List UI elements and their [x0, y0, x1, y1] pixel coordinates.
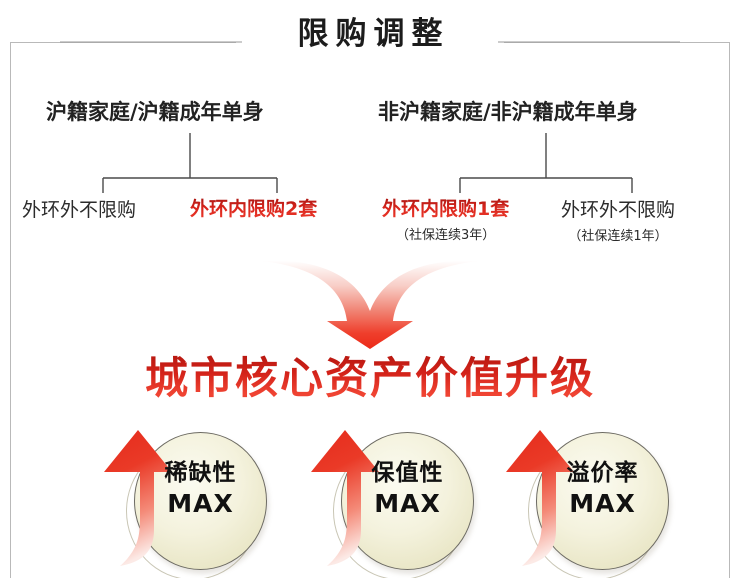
policy-leaf-nonlocal-inner: 外环内限购1套 （社保连续3年） [382, 197, 509, 243]
value-badge-scarcity: 稀缺性 MAX [76, 420, 281, 570]
badge-label-cn: 保值性 [341, 458, 474, 488]
badge-label-en: MAX [341, 488, 474, 520]
badge-label: 稀缺性 MAX [134, 458, 267, 520]
value-badge-retention: 保值性 MAX [283, 420, 488, 570]
policy-leaf-label: 外环内限购1套 [382, 197, 509, 221]
policy-leaf-local-inner: 外环内限购2套 [190, 197, 317, 221]
down-funnel-arrow-icon [255, 255, 485, 351]
badge-label-cn: 溢价率 [536, 458, 669, 488]
policy-leaf-note: （社保连续1年） [561, 225, 675, 244]
policy-leaf-label: 外环外不限购 [22, 198, 136, 222]
badge-label: 溢价率 MAX [536, 458, 669, 520]
badge-label-cn: 稀缺性 [134, 458, 267, 488]
badge-label-en: MAX [536, 488, 669, 520]
headline-container: 城市核心资产价值升级 [0, 352, 740, 406]
policy-leaf-note: （社保连续3年） [382, 224, 509, 243]
page-title: 限购调整 [291, 14, 450, 54]
group-heading-nonlocal: 非沪籍家庭/非沪籍成年单身 [378, 96, 638, 126]
policy-leaf-label: 外环外不限购 [561, 198, 675, 222]
headline-text: 城市核心资产价值升级 [145, 352, 595, 406]
policy-leaf-local-outer: 外环外不限购 [22, 198, 136, 222]
group-heading-local: 沪籍家庭/沪籍成年单身 [46, 96, 264, 126]
badge-label: 保值性 MAX [341, 458, 474, 520]
policy-leaf-label: 外环内限购2套 [190, 197, 317, 221]
infographic-canvas: 限购调整 沪籍家庭/沪籍成年单身 非沪籍家庭/非沪籍成年单身 外环外不限购 外环… [0, 0, 740, 578]
page-title-container: 限购调整 [0, 14, 740, 54]
value-badge-premium: 溢价率 MAX [478, 420, 683, 570]
policy-leaf-nonlocal-outer: 外环外不限购 （社保连续1年） [561, 198, 675, 244]
badge-label-en: MAX [134, 488, 267, 520]
